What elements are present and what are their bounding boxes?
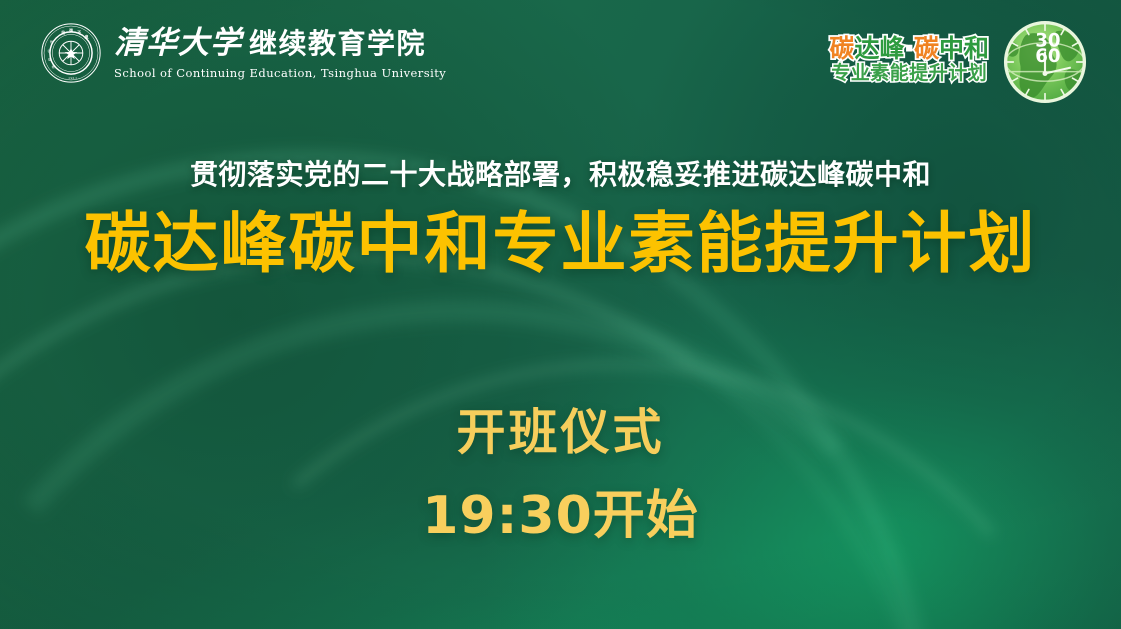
- svg-text:载: 载: [48, 57, 51, 61]
- program-logo-text: 碳达峰·碳中和 专业素能提升计划: [829, 36, 989, 88]
- green-globe-clock-icon: 30 60: [997, 14, 1093, 110]
- program-logo-separator-dot: ·: [904, 34, 914, 63]
- svg-text:自: 自: [61, 30, 65, 35]
- tsinghua-logo-text: 清华大学 继续教育学院 School of Continuing Educati…: [114, 26, 446, 80]
- program-logo-char-zhonghe: 中和: [939, 34, 989, 63]
- tsinghua-seal-icon: 自 强 不 息 · 1911 · 厚 德 载 物: [40, 22, 102, 84]
- school-name-cn: 继续教育学院: [249, 30, 426, 58]
- page-title: 碳达峰碳中和专业素能提升计划: [0, 205, 1121, 283]
- program-logo-lockup: 碳达峰·碳中和 专业素能提升计划: [829, 14, 1093, 110]
- svg-text:物: 物: [52, 65, 55, 69]
- svg-text:德: 德: [47, 49, 50, 53]
- program-logo-char-tan1: 碳: [829, 34, 854, 63]
- program-logo-line1: 碳达峰·碳中和: [829, 36, 989, 62]
- svg-text:· 1911 ·: · 1911 ·: [65, 76, 80, 80]
- svg-text:不: 不: [77, 30, 81, 35]
- ceremony-label: 开班仪式: [0, 393, 1121, 464]
- svg-text:强: 强: [69, 28, 73, 33]
- tsinghua-logo-lockup: 自 强 不 息 · 1911 · 厚 德 载 物 清华大学 继续教育学: [40, 22, 446, 84]
- start-time-label: 19:30开始: [0, 473, 1121, 548]
- svg-text:厚: 厚: [50, 40, 53, 44]
- badge-number-60: 60: [1035, 46, 1060, 67]
- program-logo-char-tan2: 碳: [914, 34, 939, 63]
- program-logo-line2: 专业素能提升计划: [831, 64, 987, 84]
- svg-text:息: 息: [85, 35, 89, 40]
- program-logo-char-dafeng: 达峰: [854, 34, 904, 63]
- slide-subtitle: 贯彻落实党的二十大战略部署，积极稳妥推进碳达峰碳中和: [0, 153, 1121, 193]
- school-name-en: School of Continuing Education, Tsinghua…: [114, 66, 446, 80]
- university-name-cn: 清华大学: [114, 28, 242, 59]
- presentation-slide: 自 强 不 息 · 1911 · 厚 德 载 物 清华大学 继续教育学: [0, 0, 1121, 629]
